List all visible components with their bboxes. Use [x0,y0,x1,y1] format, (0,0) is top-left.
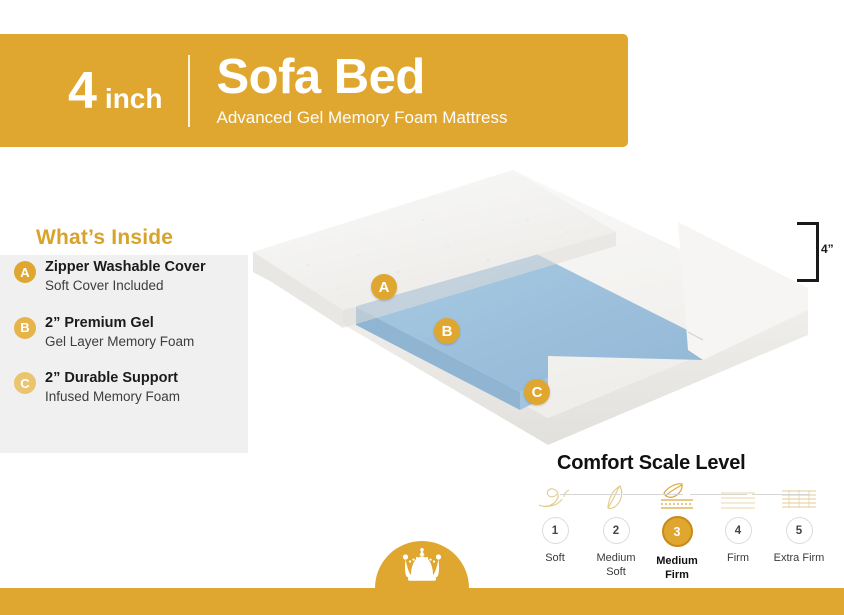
scale-connector [690,494,747,495]
brand-logo [375,541,469,588]
mattress-cutaway-graphic [248,160,808,455]
legend-description: Soft Cover Included [45,277,206,295]
legend-text-a: Zipper Washable Cover Soft Cover Include… [45,258,206,295]
scale-number: 4 [725,517,752,544]
header-size: 4 [68,65,96,117]
scale-number: 3 [662,516,693,547]
product-subtitle: Advanced Gel Memory Foam Mattress [216,107,507,128]
height-marker: 4” [797,222,843,286]
header-unit: inch [105,85,163,113]
comfort-level-5[interactable]: 5 Extra Firm [771,481,827,583]
comfort-scale-levels: 1 Soft 2 Medium Soft [527,481,827,583]
scale-label: Soft [545,552,565,566]
scale-label: Medium Soft [588,552,644,580]
comfort-scale-heading: Comfort Scale Level [557,452,746,475]
comfort-level-4[interactable]: 4 Firm [710,481,766,583]
dense-layers-icon [779,481,819,511]
scale-label: Extra Firm [774,552,825,566]
legend-title: 2” Premium Gel [45,314,194,332]
list-item: C 2” Durable Support Infused Memory Foam [14,369,255,406]
feather-on-layers-icon [656,481,698,511]
infographic-canvas: 4 inch Sofa Bed Advanced Gel Memory Foam… [0,0,844,615]
whats-inside-heading: What’s Inside [36,226,173,250]
callout-badge-a: A [371,274,397,300]
list-item: A Zipper Washable Cover Soft Cover Inclu… [14,258,255,295]
product-title: Sofa Bed [216,53,507,103]
scale-connector [752,494,810,495]
scale-connector [623,494,683,495]
scale-label: Firm [727,552,749,566]
thin-layers-icon [718,481,758,511]
comfort-level-3[interactable]: 3 Medium Firm [649,481,705,583]
scale-number: 5 [786,517,813,544]
mattress-illustration: A B C [248,160,808,455]
header-size-group: 4 inch [68,65,162,117]
header-banner: 4 inch Sofa Bed Advanced Gel Memory Foam… [0,34,628,147]
height-label: 4” [821,242,834,256]
list-item: B 2” Premium Gel Gel Layer Memory Foam [14,314,255,351]
scale-number: 2 [603,517,630,544]
legend-description: Gel Layer Memory Foam [45,333,194,351]
legend-text-c: 2” Durable Support Infused Memory Foam [45,369,180,406]
crown-logo-icon [399,548,445,582]
curled-feather-icon [535,481,575,511]
comfort-level-2[interactable]: 2 Medium Soft [588,481,644,583]
header-divider [188,55,190,127]
feather-icon [603,481,629,511]
header-text-group: Sofa Bed Advanced Gel Memory Foam Mattre… [216,53,507,128]
scale-label: Medium Firm [649,555,705,583]
legend-badge-a: A [14,261,36,283]
legend-title: 2” Durable Support [45,369,180,387]
legend-text-b: 2” Premium Gel Gel Layer Memory Foam [45,314,194,351]
callout-badge-b: B [434,318,460,344]
legend-description: Infused Memory Foam [45,388,180,406]
scale-connector [560,494,620,495]
footer-bar [0,588,844,615]
scale-number: 1 [542,517,569,544]
comfort-level-1[interactable]: 1 Soft [527,481,583,583]
height-bracket-icon [797,222,819,282]
legend-title: Zipper Washable Cover [45,258,206,276]
callout-badge-c: C [524,379,550,405]
legend-badge-c: C [14,372,36,394]
legend-badge-b: B [14,317,36,339]
whats-inside-list: A Zipper Washable Cover Soft Cover Inclu… [0,258,255,425]
